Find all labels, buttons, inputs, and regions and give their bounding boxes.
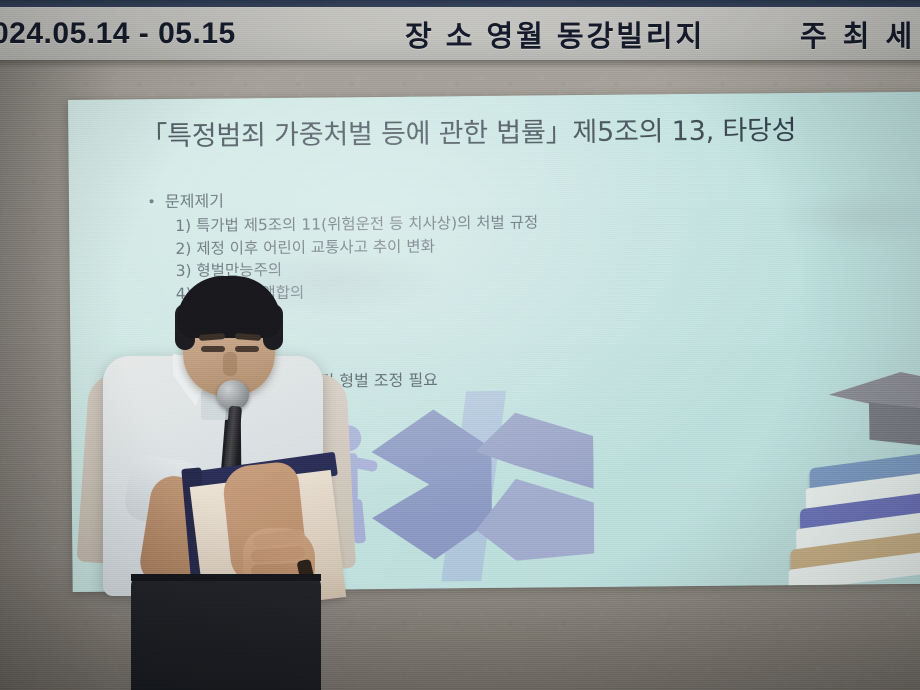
speaker-hair — [177, 276, 281, 338]
event-banner: 024.05.14 - 05.15 장 소 영월 동강빌리지 주 최 세 — [0, 7, 920, 60]
slide-bullet-item: • 문제제기 — [149, 187, 538, 213]
bullet-text: 문제제기 — [165, 191, 224, 214]
speaker-trousers — [131, 574, 321, 690]
speaker-figure — [75, 282, 375, 690]
banner-date-text: 024.05.14 - 05.15 — [0, 17, 236, 51]
speaker-nose — [223, 352, 237, 376]
speaker-eye-left — [201, 346, 225, 352]
projector-hotspot-secondary — [769, 186, 920, 248]
graduation-cap-books-graphic — [787, 363, 920, 585]
speaker-eye-right — [235, 346, 259, 352]
speaker-belt — [131, 574, 321, 581]
slide-title: 「특정범죄 가중처벌 등에 관한 법률」제5조의 13, 타당성 — [140, 108, 796, 153]
presentation-photo-scene: 024.05.14 - 05.15 장 소 영월 동강빌리지 주 최 세 「특정… — [0, 0, 920, 690]
banner-host-text: 주 최 세 — [800, 13, 916, 55]
sub-item: 1) 특가법 제5조의 11(위험운전 등 치사상)의 처벌 규정 — [175, 211, 538, 237]
bullet-marker-icon: • — [149, 191, 165, 213]
banner-drop-shadow — [0, 60, 920, 69]
banner-top-strip — [0, 0, 920, 7]
isometric-cube-graphic — [371, 400, 603, 592]
banner-place-text: 장 소 영월 동강빌리지 — [405, 13, 705, 55]
iso-right-bottom-shape — [476, 478, 595, 561]
